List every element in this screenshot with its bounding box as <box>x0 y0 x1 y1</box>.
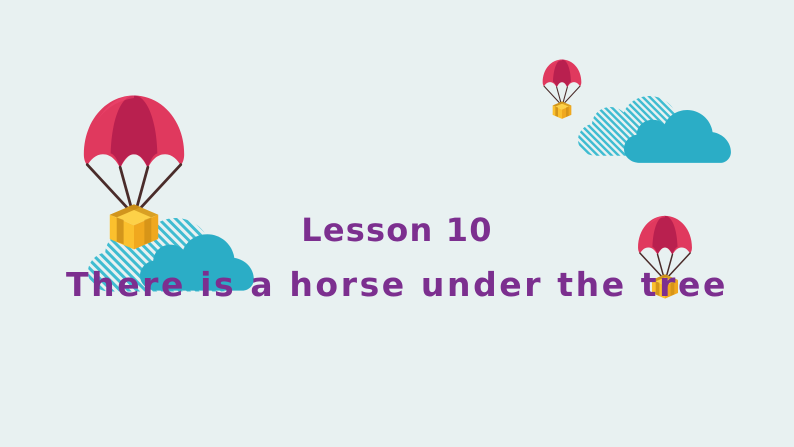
page-title: Lesson 10 There is a horse under the tre… <box>0 214 794 301</box>
lesson-sentence-text: There is a horse under the tree <box>0 268 794 301</box>
lesson-number-text: Lesson 10 <box>0 214 794 246</box>
lesson-title-slide: Lesson 10 There is a horse under the tre… <box>0 0 794 447</box>
